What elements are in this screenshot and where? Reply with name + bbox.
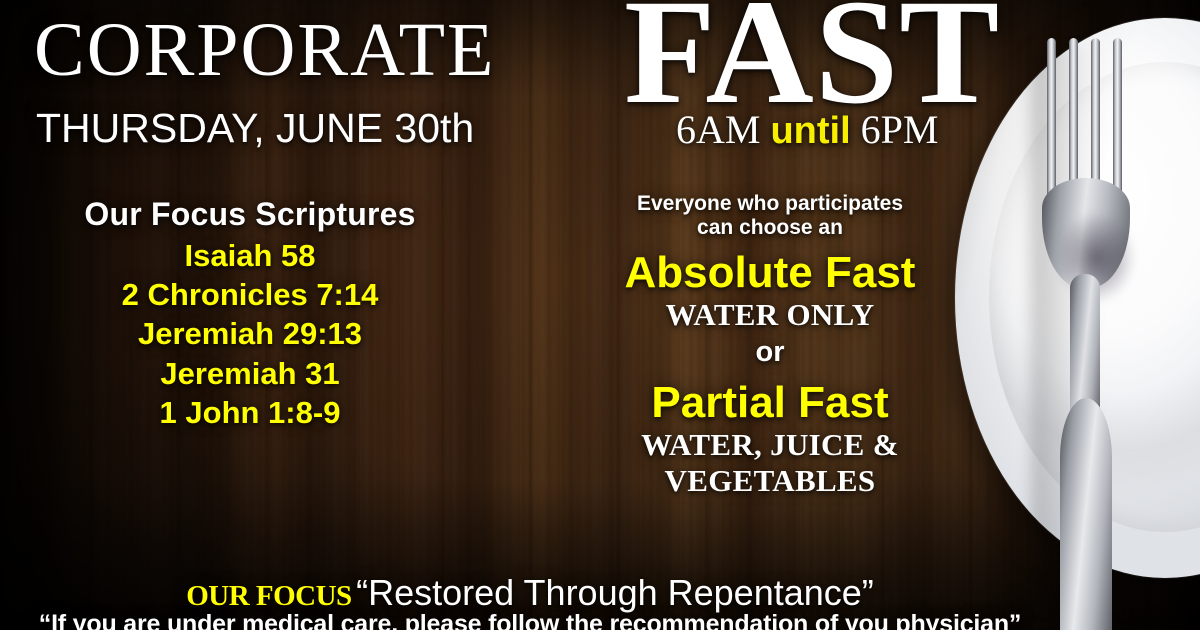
list-item: 2 Chronicles 7:14 (0, 275, 500, 314)
option-partial-fast-title: Partial Fast (555, 378, 985, 427)
focus-scriptures-list: Isaiah 58 2 Chronicles 7:14 Jeremiah 29:… (0, 236, 500, 433)
list-item: Jeremiah 31 (0, 354, 500, 393)
headline-corporate: CORPORATE (34, 7, 495, 94)
option-partial-fast-detail-line2: VEGETABLES (555, 463, 985, 498)
focus-theme-line: OUR FOCUS “Restored Through Repentance” (0, 572, 1060, 614)
fast-options-intro-line2: can choose an (555, 216, 985, 240)
list-item: 1 John 1:8-9 (0, 393, 500, 432)
fork-handle (1060, 398, 1112, 630)
event-hours: 6AM until 6PM (676, 106, 938, 153)
fork-tine (1047, 38, 1056, 210)
focus-theme: “Restored Through Repentance” (356, 572, 874, 613)
option-partial-fast-detail-line1: WATER, JUICE & (555, 427, 985, 462)
fast-options-block: Everyone who participates can choose an … (555, 192, 985, 498)
medical-disclaimer: “If you are under medical care, please f… (0, 610, 1060, 630)
hours-connector: until (770, 110, 850, 152)
list-item: Jeremiah 29:13 (0, 314, 500, 353)
fork-icon (1040, 38, 1150, 630)
hours-end: 6PM (861, 107, 939, 152)
list-item: Isaiah 58 (0, 236, 500, 275)
focus-scriptures-block: Our Focus Scriptures Isaiah 58 2 Chronic… (0, 196, 500, 433)
event-date: THURSDAY, JUNE 30th (36, 105, 474, 152)
option-absolute-fast-detail: WATER ONLY (555, 297, 985, 332)
hours-start: 6AM (676, 107, 760, 152)
focus-scriptures-heading: Our Focus Scriptures (0, 196, 500, 234)
option-absolute-fast-title: Absolute Fast (555, 248, 985, 297)
options-separator: or (555, 335, 985, 370)
poster-canvas: CORPORATE FAST THURSDAY, JUNE 30th 6AM u… (0, 0, 1200, 630)
focus-label: OUR FOCUS (186, 580, 351, 612)
fast-options-intro-line1: Everyone who participates (555, 192, 985, 216)
